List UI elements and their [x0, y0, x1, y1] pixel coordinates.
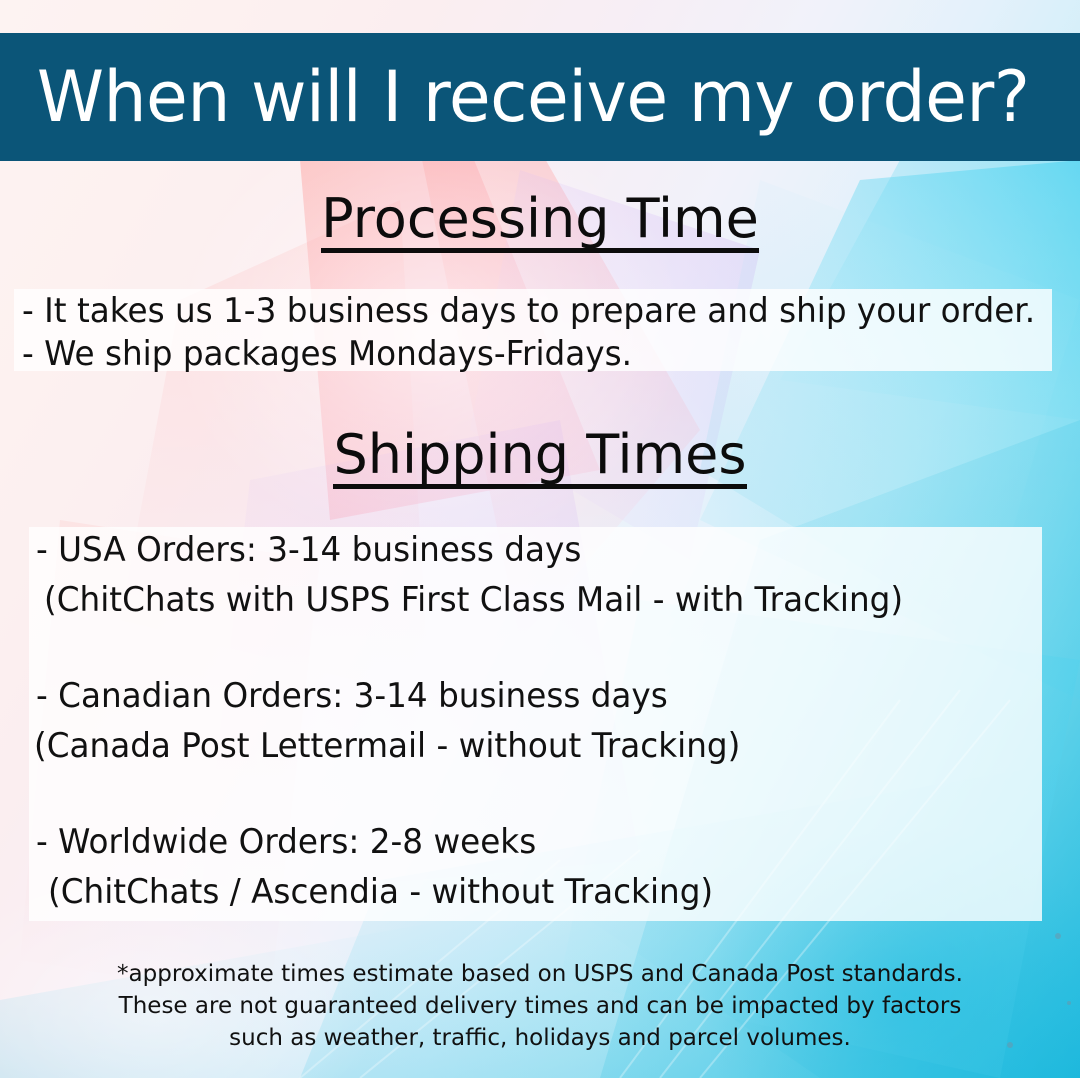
footer-disclaimer: *approximate times estimate based on USP…	[0, 958, 1080, 1054]
footer-disclaimer-line-3: such as weather, traffic, holidays and p…	[0, 1022, 1080, 1054]
shipping-policy-graphic: When will I receive my order? Processing…	[0, 0, 1080, 1078]
section-heading-shipping-times: Shipping Times	[0, 428, 1080, 489]
shipping-worldwide-orders-line: - Worldwide Orders: 2-8 weeks	[36, 825, 536, 859]
shipping-usa-orders-line: - USA Orders: 3-14 business days	[36, 533, 581, 567]
footer-disclaimer-line-1: *approximate times estimate based on USP…	[0, 958, 1080, 990]
header-banner: When will I receive my order?	[0, 33, 1080, 161]
shipping-canadian-orders-line: - Canadian Orders: 3-14 business days	[36, 679, 668, 713]
section-heading-shipping-times-text: Shipping Times	[333, 428, 746, 489]
footer-disclaimer-line-2: These are not guaranteed delivery times …	[0, 990, 1080, 1022]
processing-time-line-2: - We ship packages Mondays-Fridays.	[22, 337, 632, 371]
shipping-usa-carrier-line: (ChitChats with USPS First Class Mail - …	[44, 583, 903, 617]
section-heading-processing-time-text: Processing Time	[321, 192, 759, 253]
processing-time-line-1: - It takes us 1-3 business days to prepa…	[22, 294, 1035, 328]
page-title: When will I receive my order?	[0, 62, 1029, 132]
shipping-canadian-carrier-line: (Canada Post Lettermail - without Tracki…	[34, 729, 740, 763]
shipping-worldwide-carrier-line: (ChitChats / Ascendia - without Tracking…	[48, 875, 713, 909]
section-heading-processing-time: Processing Time	[0, 192, 1080, 253]
